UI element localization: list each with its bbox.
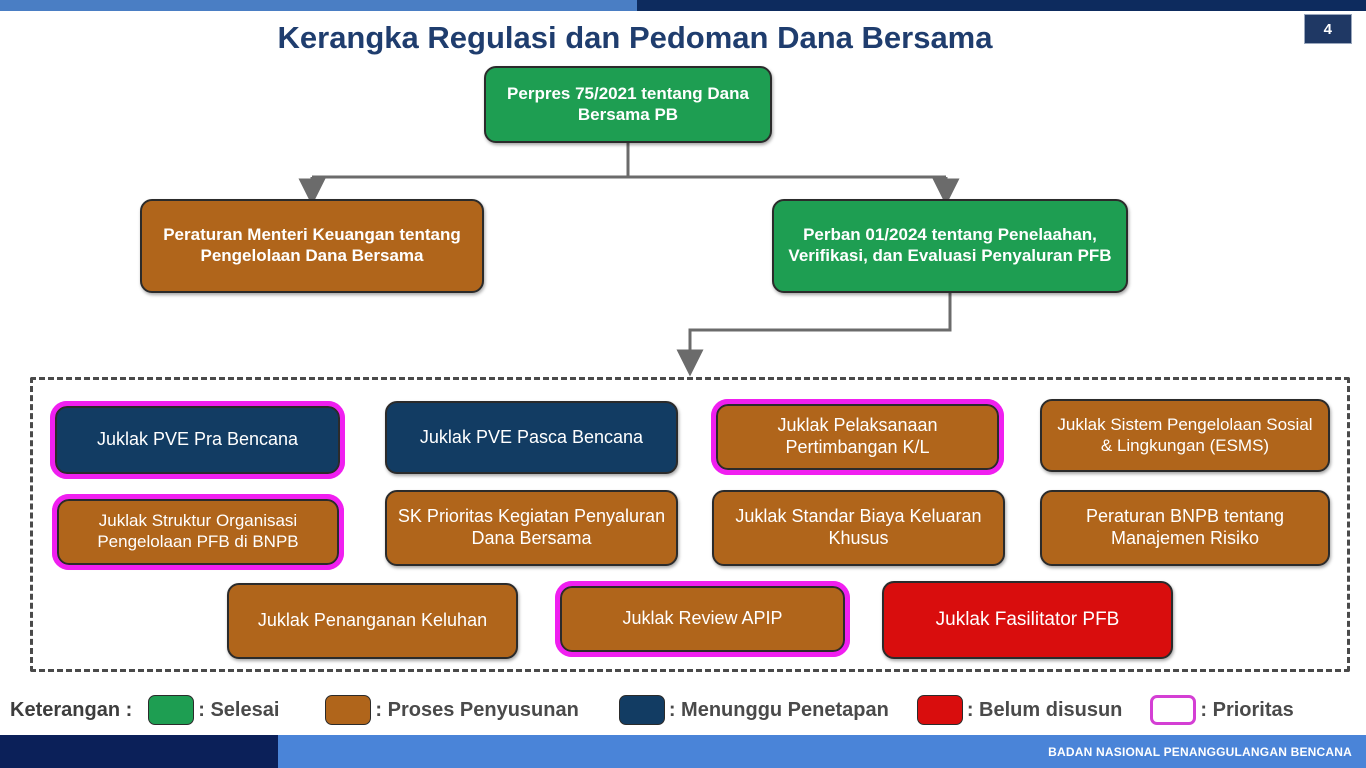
legend-item-proses-penyusunan: : Proses Penyusunan <box>325 695 578 725</box>
legend-item-prioritas: : Prioritas <box>1150 695 1293 725</box>
legend: Keterangan : : Selesai : Proses Penyusun… <box>10 688 1366 732</box>
legend-item-menunggu-penetapan: : Menunggu Penetapan <box>619 695 889 725</box>
node-juklak-struktur-organisasi-pfb[interactable]: Juklak Struktur Organisasi Pengelolaan P… <box>57 499 339 565</box>
node-juklak-fasilitator-pfb[interactable]: Juklak Fasilitator PFB <box>882 581 1173 659</box>
footer-bar-left <box>0 735 278 768</box>
legend-label-prioritas: : Prioritas <box>1200 699 1293 722</box>
legend-label-menunggu-penetapan: : Menunggu Penetapan <box>669 699 889 722</box>
page-title: Kerangka Regulasi dan Pedoman Dana Bersa… <box>0 20 1270 56</box>
legend-item-selesai: : Selesai <box>148 695 279 725</box>
legend-swatch-belum-disusun <box>917 695 963 725</box>
node-juklak-pve-pasca-bencana[interactable]: Juklak PVE Pasca Bencana <box>385 401 678 474</box>
legend-title: Keterangan : <box>10 699 132 722</box>
top-accent-bar-left <box>0 0 637 11</box>
legend-label-proses-penyusunan: : Proses Penyusunan <box>375 699 578 722</box>
legend-swatch-prioritas <box>1150 695 1196 725</box>
node-juklak-pve-pra-bencana[interactable]: Juklak PVE Pra Bencana <box>55 406 340 474</box>
node-juklak-standar-biaya[interactable]: Juklak Standar Biaya Keluaran Khusus <box>712 490 1005 566</box>
legend-swatch-proses-penyusunan <box>325 695 371 725</box>
footer-bar: BADAN NASIONAL PENANGGULANGAN BENCANA <box>0 735 1366 768</box>
top-accent-bar <box>0 0 1366 11</box>
legend-swatch-menunggu-penetapan <box>619 695 665 725</box>
node-sk-prioritas-kegiatan[interactable]: SK Prioritas Kegiatan Penyaluran Dana Be… <box>385 490 678 566</box>
footer-organization-name: BADAN NASIONAL PENANGGULANGAN BENCANA <box>1048 745 1352 759</box>
node-juklak-sistem-pengelolaan-esms[interactable]: Juklak Sistem Pengelolaan Sosial & Lingk… <box>1040 399 1330 472</box>
node-juklak-pelaksanaan-pertimbangan-kl[interactable]: Juklak Pelaksanaan Pertimbangan K/L <box>716 404 999 470</box>
node-peraturan-menteri-keuangan[interactable]: Peraturan Menteri Keuangan tentang Penge… <box>140 199 484 293</box>
page-number-badge: 4 <box>1304 14 1352 44</box>
node-juklak-review-apip[interactable]: Juklak Review APIP <box>560 586 845 652</box>
node-peraturan-bnpb-manajemen-risiko[interactable]: Peraturan BNPB tentang Manajemen Risiko <box>1040 490 1330 566</box>
node-juklak-penanganan-keluhan[interactable]: Juklak Penanganan Keluhan <box>227 583 518 659</box>
footer-bar-right: BADAN NASIONAL PENANGGULANGAN BENCANA <box>278 735 1366 768</box>
legend-swatch-selesai <box>148 695 194 725</box>
legend-item-belum-disusun: : Belum disusun <box>917 695 1123 725</box>
node-perban-01-2024[interactable]: Perban 01/2024 tentang Penelaahan, Verif… <box>772 199 1128 293</box>
legend-label-selesai: : Selesai <box>198 699 279 722</box>
legend-label-belum-disusun: : Belum disusun <box>967 699 1123 722</box>
top-accent-bar-right <box>637 0 1366 11</box>
node-root-perpres[interactable]: Perpres 75/2021 tentang Dana Bersama PB <box>484 66 772 143</box>
